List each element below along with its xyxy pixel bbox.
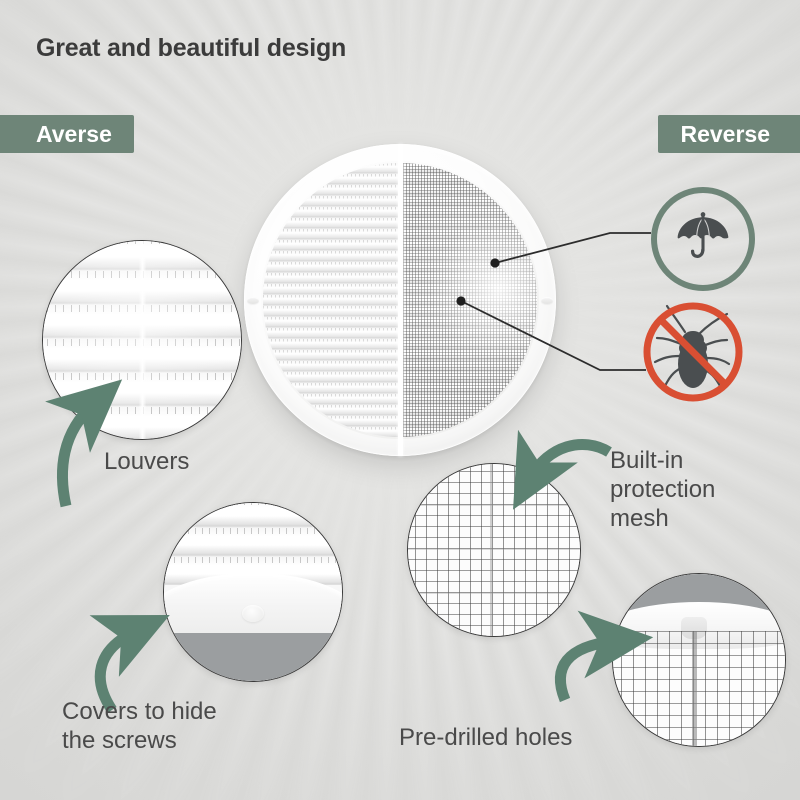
infographic-canvas: Great and beautiful design Averse Revers… [0,0,800,800]
product-screw-cap-left [247,297,259,304]
detail-circle-mesh [407,463,581,637]
detail-circle-pre-drilled-holes [612,573,786,747]
umbrella-glyph [674,210,732,268]
screws-zoom-base [163,633,343,682]
mesh-zoom-texture [407,463,581,637]
umbrella-icon [651,187,755,291]
product-split-divider [398,144,403,456]
product-screw-cap-right [541,297,553,304]
caption-pre-drilled-holes: Pre-drilled holes [399,723,572,752]
detail-circle-screw-covers [163,502,343,682]
badge-averse-label: Averse [36,121,112,148]
product-image-vent-grille [244,144,556,456]
holes-zoom-net [612,631,786,747]
holes-zoom-texture [612,573,786,747]
mesh-zoom-seam [490,463,493,637]
badge-reverse: Reverse [658,115,800,153]
detail-circle-louvers [42,240,242,440]
screws-zoom-texture [163,502,343,682]
no-cockroach-icon [641,300,745,404]
page-title: Great and beautiful design [36,34,346,63]
caption-louvers: Louvers [104,447,189,476]
screws-zoom-slats [163,502,343,585]
screws-zoom-cap [242,605,264,622]
badge-averse: Averse [0,115,134,153]
caption-mesh: Built-in protection mesh [610,446,715,533]
mesh-zoom-bands [407,463,581,637]
louvers-zoom-glow [42,240,242,440]
badge-reverse-label: Reverse [680,121,770,148]
holes-zoom-post [692,631,697,747]
no-cockroach-glyph [641,300,745,404]
caption-screw-covers: Covers to hide the screws [62,697,217,755]
louvers-zoom-texture [42,240,242,440]
